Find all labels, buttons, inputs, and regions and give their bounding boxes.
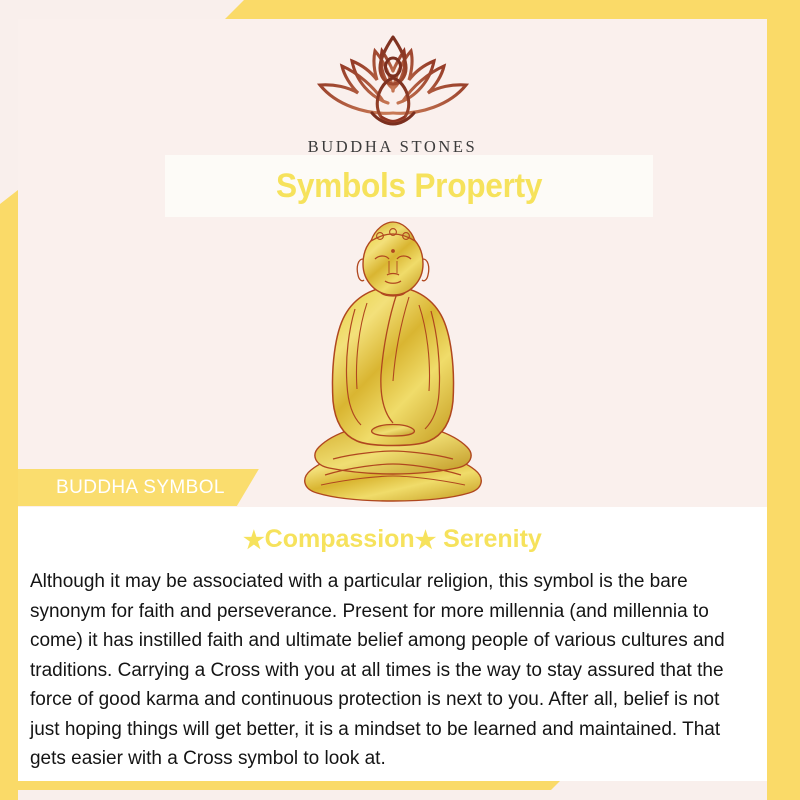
decorative-band-right — [767, 0, 800, 800]
content-panel: BUDDHA STONES Symbols Property — [18, 19, 767, 781]
star-icon-2: ★ — [415, 527, 437, 554]
decorative-band-top — [225, 0, 800, 19]
hero-image — [18, 217, 767, 507]
brand-name: BUDDHA STONES — [18, 137, 767, 157]
section-ribbon-label: BUDDHA SYMBOL — [56, 477, 225, 499]
golden-buddha-statue-icon — [285, 217, 501, 507]
section-ribbon: BUDDHA SYMBOL — [18, 469, 259, 506]
brand-logo: BUDDHA STONES — [18, 27, 767, 157]
attribute-serenity: Serenity — [436, 525, 542, 553]
page-title: Symbols Property — [276, 167, 542, 206]
description-card: ★Compassion★ Serenity Although it may be… — [18, 507, 767, 781]
decorative-band-left — [0, 190, 18, 800]
attributes-subtitle: ★Compassion★ Serenity — [18, 525, 767, 555]
attribute-compassion: Compassion — [265, 525, 415, 553]
description-paragraph: Although it may be associated with a par… — [30, 567, 744, 774]
lotus-meditation-icon — [18, 27, 767, 135]
title-band: Symbols Property — [165, 155, 653, 217]
poster-root: BUDDHA STONES Symbols Property — [0, 0, 800, 800]
star-icon-1: ★ — [243, 527, 265, 554]
